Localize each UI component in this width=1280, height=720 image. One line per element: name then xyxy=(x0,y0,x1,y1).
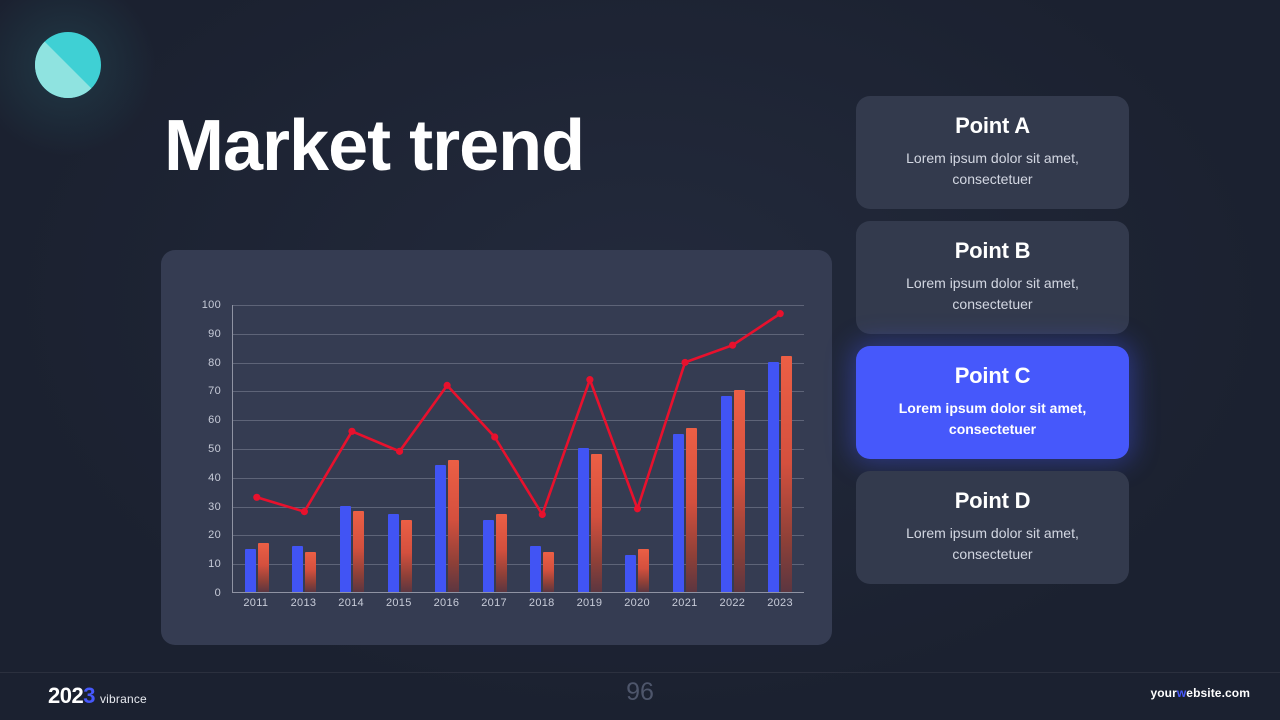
bar-2013-s1 xyxy=(292,546,303,592)
bar-2014-s1 xyxy=(340,506,351,592)
bar-2017-s2 xyxy=(496,514,507,592)
slide-root: Market trend 0102030405060708090100 2011… xyxy=(0,0,1280,720)
point-card-body: Lorem ipsum dolor sit amet, consectetuer xyxy=(876,148,1109,190)
bar-2022-s2 xyxy=(734,390,745,592)
y-axis-tick: 20 xyxy=(208,529,221,541)
x-axis-tick: 2020 xyxy=(614,597,661,609)
bar-group xyxy=(673,305,697,592)
bar-group xyxy=(578,305,602,592)
bar-2022-s1 xyxy=(721,396,732,592)
y-axis-tick: 10 xyxy=(208,558,221,570)
y-axis-tick: 80 xyxy=(208,357,221,369)
chart-panel: 0102030405060708090100 20112013201420152… xyxy=(161,250,832,645)
chart-plot-area xyxy=(232,305,804,593)
x-axis-tick: 2015 xyxy=(375,597,422,609)
bar-2017-s1 xyxy=(483,520,494,592)
y-axis-tick: 0 xyxy=(215,587,221,599)
bar-2020-s1 xyxy=(625,555,636,592)
vibrance-circle-logo xyxy=(35,32,101,98)
bar-group xyxy=(435,305,459,592)
x-axis-tick: 2021 xyxy=(661,597,708,609)
point-card-body: Lorem ipsum dolor sit amet, consectetuer xyxy=(876,398,1109,440)
website-accent-letter: w xyxy=(1177,686,1186,700)
bar-group xyxy=(530,305,554,592)
point-card-list: Point ALorem ipsum dolor sit amet, conse… xyxy=(856,96,1129,584)
page-title: Market trend xyxy=(164,110,584,182)
logo-half-shape xyxy=(35,32,101,98)
bar-group xyxy=(721,305,745,592)
bar-2018-s1 xyxy=(530,546,541,592)
point-card-body: Lorem ipsum dolor sit amet, consectetuer xyxy=(876,523,1109,565)
bar-group xyxy=(245,305,269,592)
bar-group xyxy=(768,305,792,592)
bar-2013-s2 xyxy=(305,552,316,592)
bar-2023-s1 xyxy=(768,362,779,592)
x-axis-tick: 2017 xyxy=(471,597,518,609)
bar-2015-s2 xyxy=(401,520,412,592)
bar-2011-s2 xyxy=(258,543,269,592)
bar-2019-s2 xyxy=(591,454,602,592)
footer-divider xyxy=(0,672,1280,673)
x-axis-tick: 2022 xyxy=(709,597,756,609)
point-card-title: Point D xyxy=(876,488,1109,514)
bar-group xyxy=(340,305,364,592)
bar-2014-s2 xyxy=(353,511,364,592)
bar-group xyxy=(388,305,412,592)
bar-2015-s1 xyxy=(388,514,399,592)
bar-2023-s2 xyxy=(781,356,792,592)
x-axis-tick: 2014 xyxy=(328,597,375,609)
page-number: 96 xyxy=(0,678,1280,707)
bar-group xyxy=(483,305,507,592)
x-axis-tick: 2011 xyxy=(232,597,279,609)
chart-x-axis: 2011201320142015201620172018201920202021… xyxy=(232,597,804,609)
y-axis-tick: 90 xyxy=(208,328,221,340)
y-axis-tick: 100 xyxy=(202,299,221,311)
point-card-point-d[interactable]: Point DLorem ipsum dolor sit amet, conse… xyxy=(856,471,1129,584)
y-axis-tick: 30 xyxy=(208,501,221,513)
point-card-point-b[interactable]: Point BLorem ipsum dolor sit amet, conse… xyxy=(856,221,1129,334)
bar-group xyxy=(292,305,316,592)
bar-2018-s2 xyxy=(543,552,554,592)
point-card-title: Point B xyxy=(876,238,1109,264)
y-axis-tick: 70 xyxy=(208,385,221,397)
point-card-point-a[interactable]: Point ALorem ipsum dolor sit amet, conse… xyxy=(856,96,1129,209)
bar-2011-s1 xyxy=(245,549,256,592)
x-axis-tick: 2016 xyxy=(423,597,470,609)
y-axis-tick: 50 xyxy=(208,443,221,455)
point-card-title: Point C xyxy=(876,363,1109,389)
bar-2019-s1 xyxy=(578,448,589,592)
chart-bar-groups xyxy=(233,305,804,592)
bar-2020-s2 xyxy=(638,549,649,592)
point-card-point-c[interactable]: Point CLorem ipsum dolor sit amet, conse… xyxy=(856,346,1129,459)
website-url[interactable]: yourwebsite.com xyxy=(1150,686,1250,700)
bar-2021-s1 xyxy=(673,434,684,592)
chart-y-axis: 0102030405060708090100 xyxy=(187,305,225,593)
bar-2016-s2 xyxy=(448,460,459,592)
point-card-body: Lorem ipsum dolor sit amet, consectetuer xyxy=(876,273,1109,315)
bar-group xyxy=(625,305,649,592)
x-axis-tick: 2013 xyxy=(280,597,327,609)
chart-inner: 0102030405060708090100 20112013201420152… xyxy=(187,305,807,615)
x-axis-tick: 2018 xyxy=(518,597,565,609)
y-axis-tick: 60 xyxy=(208,414,221,426)
bar-2016-s1 xyxy=(435,465,446,592)
x-axis-tick: 2023 xyxy=(757,597,804,609)
y-axis-tick: 40 xyxy=(208,472,221,484)
point-card-title: Point A xyxy=(876,113,1109,139)
bar-2021-s2 xyxy=(686,428,697,592)
x-axis-tick: 2019 xyxy=(566,597,613,609)
